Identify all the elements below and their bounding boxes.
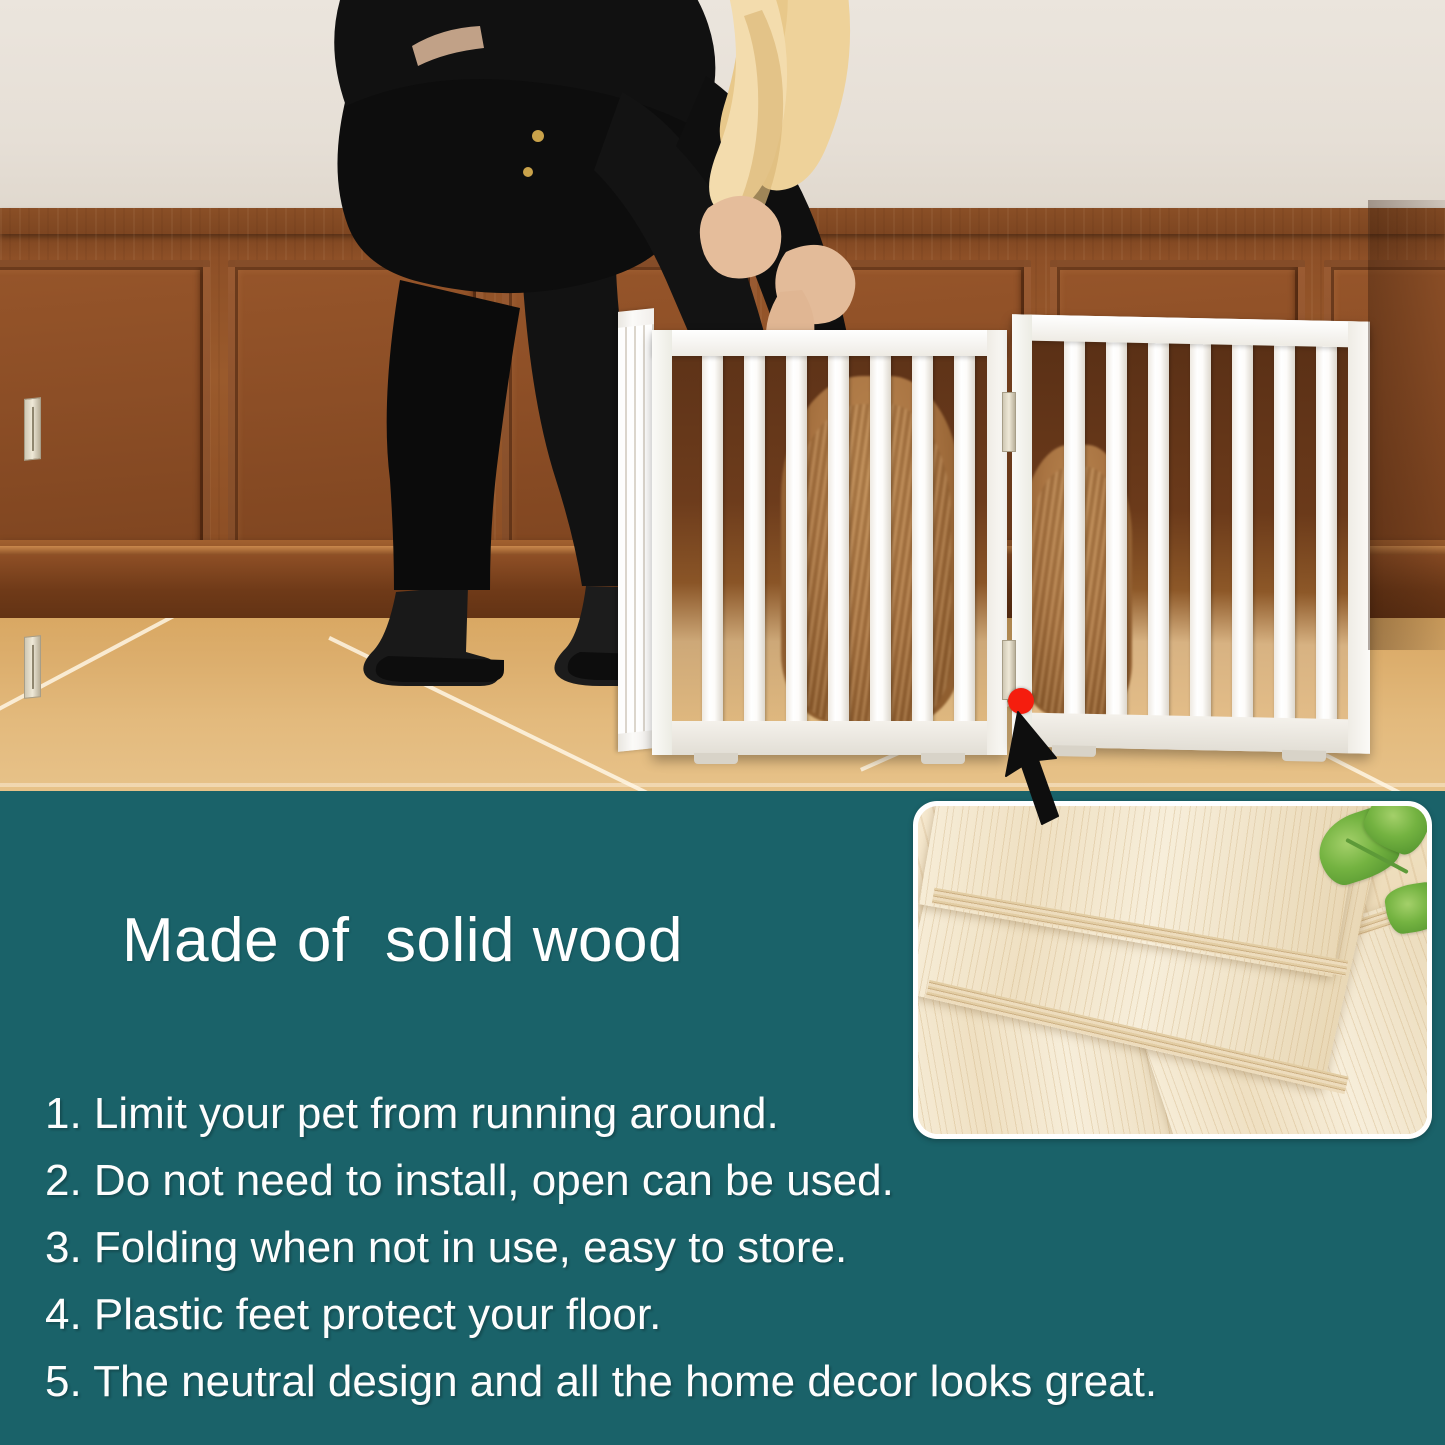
hero-photo bbox=[0, 0, 1445, 791]
gate-stile-left bbox=[652, 330, 672, 755]
gate-slat bbox=[1064, 333, 1085, 721]
gate-slat bbox=[1232, 337, 1253, 725]
wood-planks-photo bbox=[918, 806, 1427, 1134]
gate-slat bbox=[954, 348, 975, 729]
wood-material-inset bbox=[913, 801, 1432, 1139]
gate-panel-right bbox=[1012, 314, 1370, 753]
gate-slat bbox=[1190, 336, 1211, 724]
gate-hinge-upper bbox=[24, 397, 41, 461]
gate-slat bbox=[786, 348, 807, 729]
gate-slat bbox=[828, 348, 849, 729]
gate-foot-right bbox=[1282, 750, 1326, 762]
grout-line bbox=[0, 783, 1445, 787]
product-infographic: Made of solid wood 1. Limit your pet fro… bbox=[0, 0, 1445, 1445]
gate-hinge-lower bbox=[24, 635, 41, 699]
gate-rail-top bbox=[652, 330, 1007, 356]
feature-list-item: 2. Do not need to install, open can be u… bbox=[45, 1147, 1405, 1214]
gate-panel-left bbox=[618, 308, 654, 752]
gate-foot bbox=[921, 753, 965, 764]
gate-foot bbox=[694, 753, 738, 764]
gate-slat bbox=[912, 348, 933, 729]
gate-slat bbox=[1148, 335, 1169, 723]
panel-heading: Made of solid wood bbox=[122, 905, 683, 976]
gate-slats-left bbox=[618, 324, 654, 734]
gate-slat bbox=[1274, 338, 1295, 726]
feature-list-item: 4. Plastic feet protect your floor. bbox=[45, 1281, 1405, 1348]
gate-slat bbox=[744, 348, 765, 729]
corner-shadow bbox=[1368, 200, 1445, 650]
gate-slat bbox=[1316, 339, 1337, 727]
feature-list-item: 5. The neutral design and all the home d… bbox=[45, 1348, 1405, 1415]
gate-slat bbox=[702, 348, 723, 729]
gate-slat bbox=[870, 348, 891, 729]
gate-hinge-right-upper bbox=[1002, 392, 1016, 452]
gate-panel-middle bbox=[652, 330, 1007, 755]
callout-arrow bbox=[960, 690, 1100, 840]
gate-rail-bottom bbox=[652, 721, 1007, 755]
feature-list-item: 3. Folding when not in use, easy to stor… bbox=[45, 1214, 1405, 1281]
gate-slat bbox=[1106, 334, 1127, 722]
gate-stile-right-right bbox=[1348, 321, 1370, 753]
